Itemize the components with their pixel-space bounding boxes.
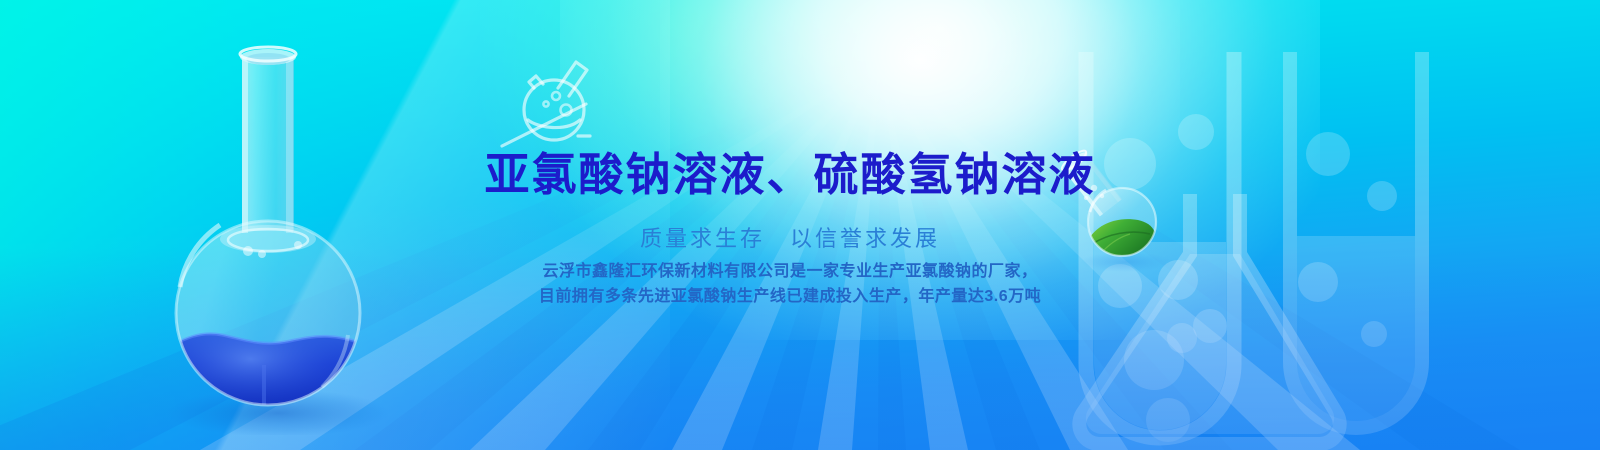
banner-tagline: 质量求生存 以信誉求发展: [0, 228, 1590, 250]
center-glow: [560, 0, 1320, 340]
center-glow-core: [660, 0, 1180, 270]
outline-flask-icon: [486, 48, 598, 154]
test-tube-watermark: [1064, 46, 1294, 446]
banner-description-line-1: 云浮市鑫隆汇环保新材料有限公司是一家专业生产亚氯酸钠的厂家，: [0, 264, 1590, 280]
sunburst-rays: [0, 0, 1600, 450]
round-bottom-flask-photo: [150, 35, 400, 435]
left-cyan-gradient-overlay: [0, 0, 1600, 450]
banner-description-line-2: 目前拥有多条先进亚氯酸钠生产线已建成投入生产，年产量达3.6万吨: [0, 289, 1590, 305]
mint-glow: [480, 0, 900, 260]
test-tube-watermark-secondary: [1270, 46, 1470, 446]
banner-main-title: 亚氯酸钠溶液、硫酸氢钠溶液: [0, 152, 1590, 197]
diagonal-light-panel: [150, 0, 670, 450]
tilted-flask-with-leaf: [1042, 122, 1172, 272]
erlenmeyer-flask-watermark: [1062, 188, 1392, 450]
bottom-blue-gradient-overlay: [0, 0, 1600, 450]
product-banner: 亚氯酸钠溶液、硫酸氢钠溶液 质量求生存 以信誉求发展 云浮市鑫隆汇环保新材料有限…: [0, 0, 1600, 450]
